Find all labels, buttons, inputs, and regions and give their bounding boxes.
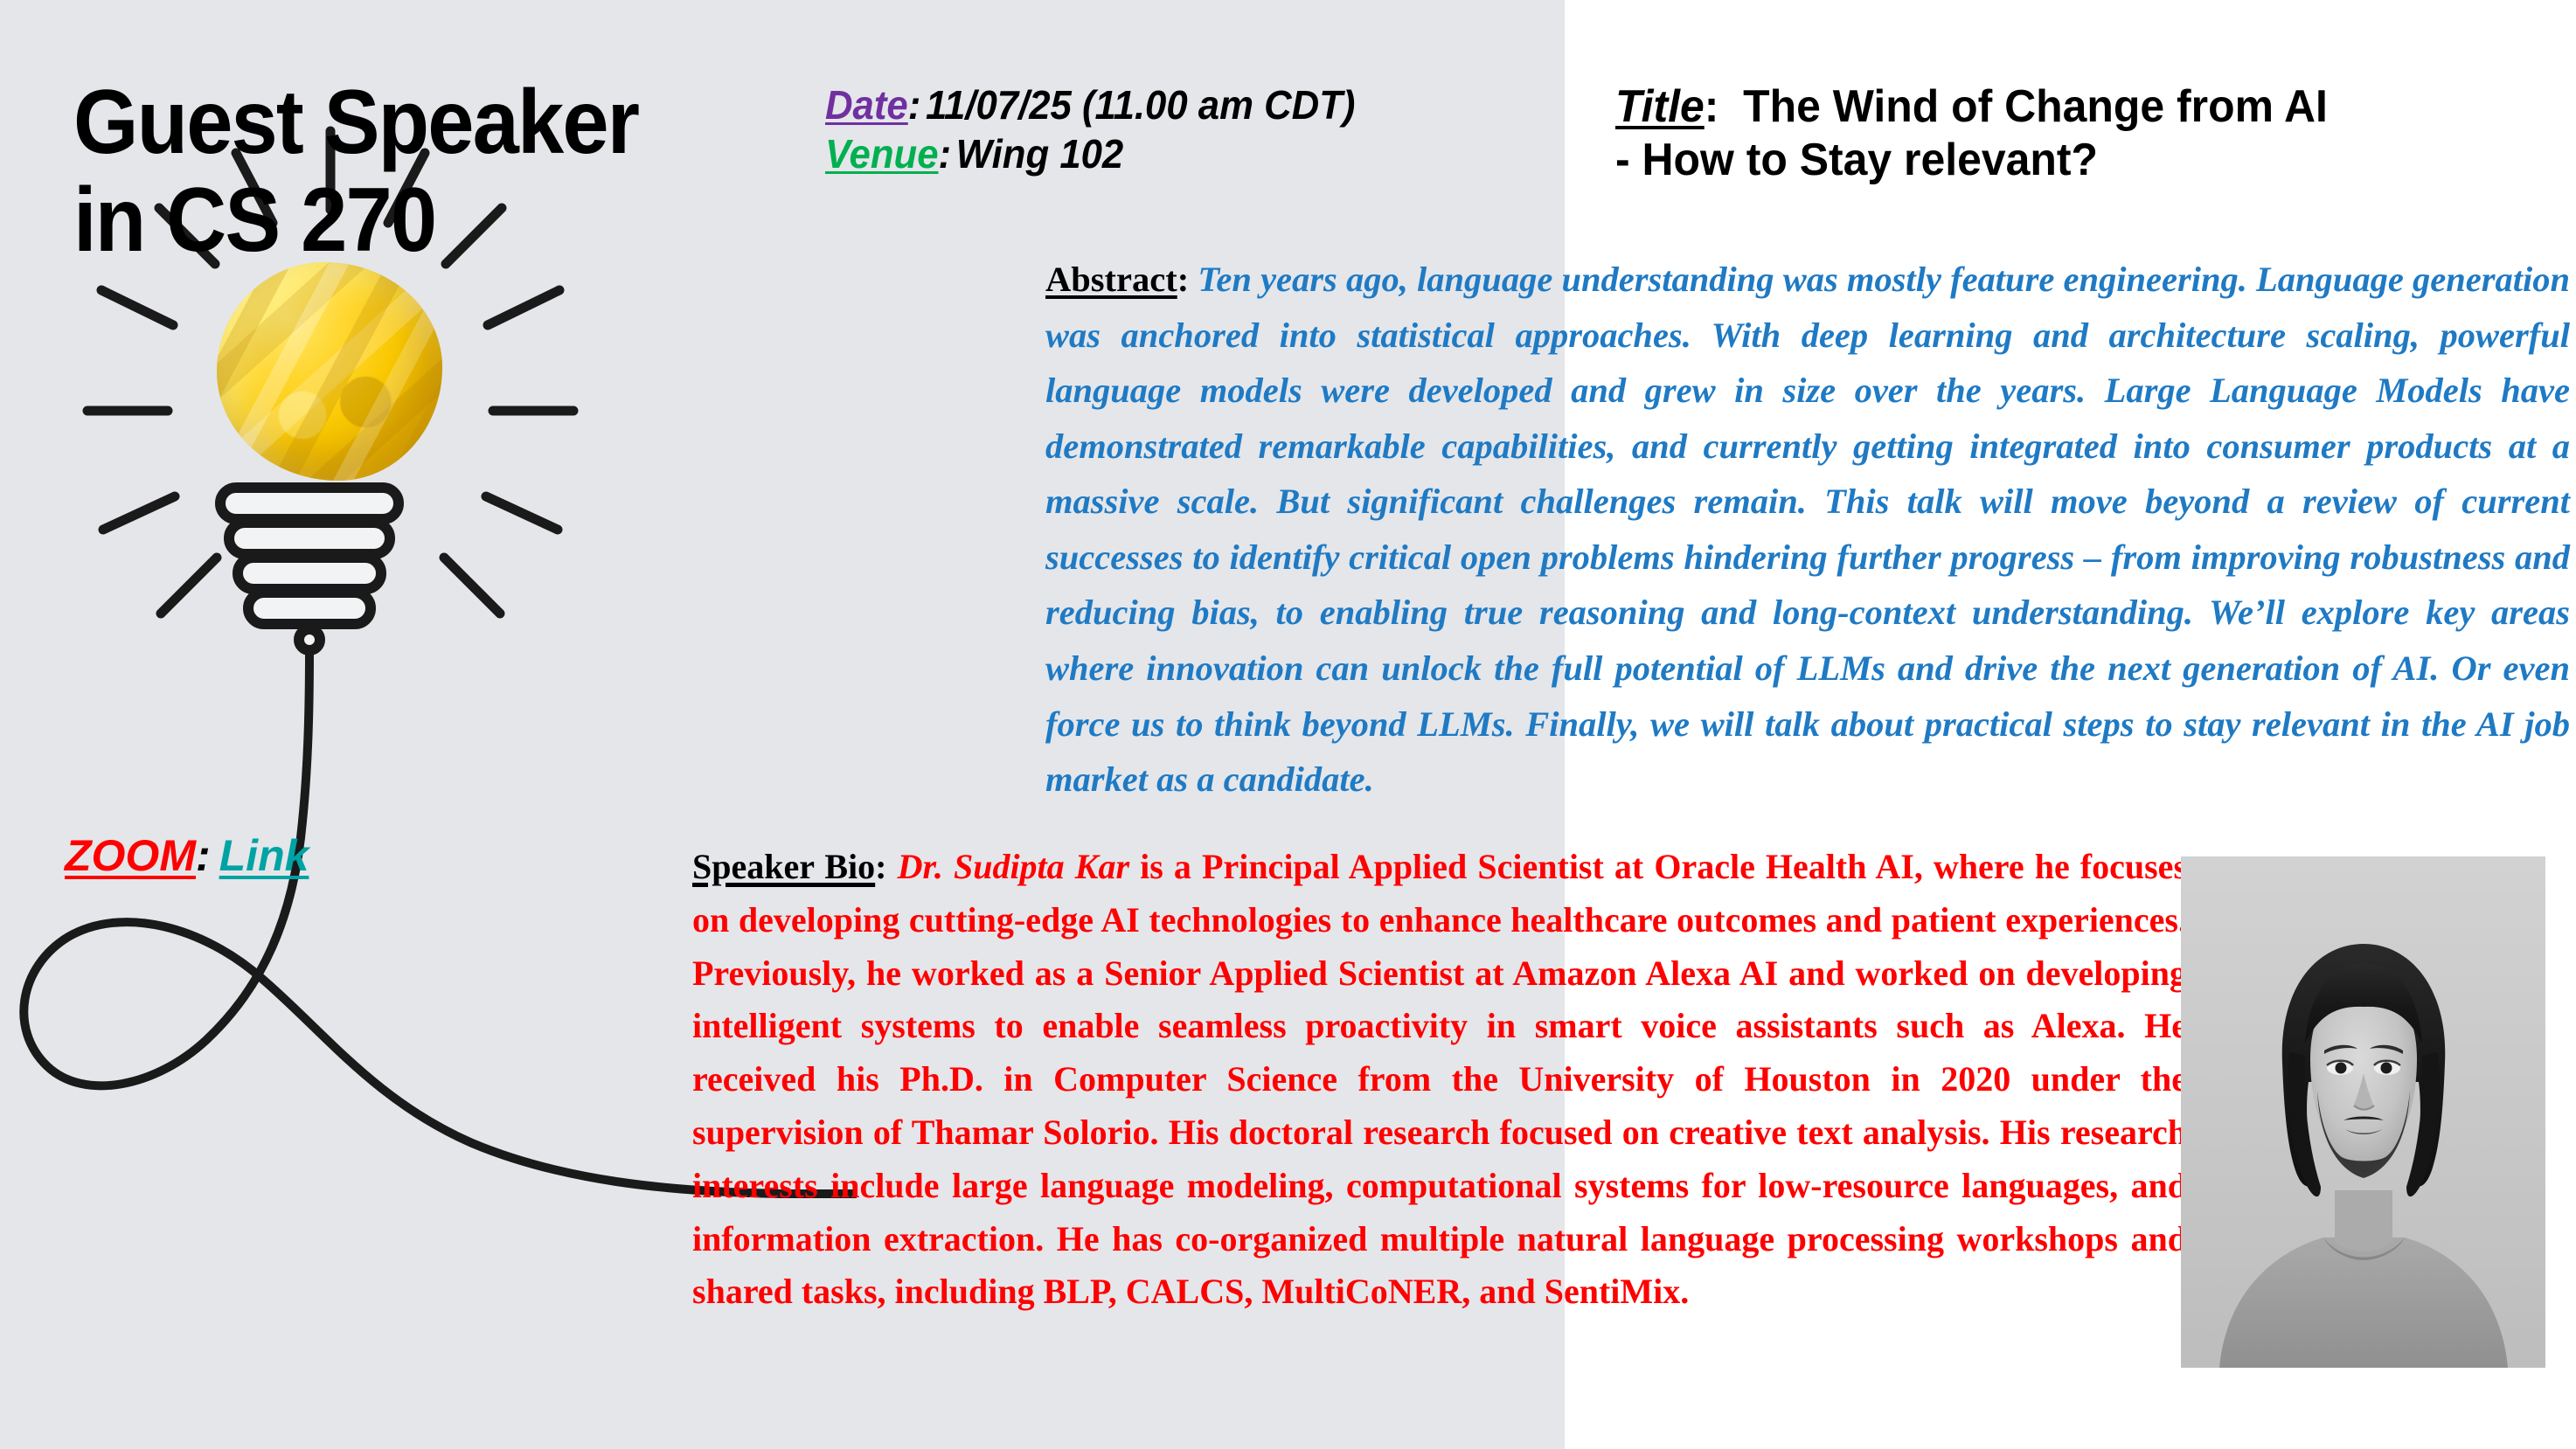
title-colon: : xyxy=(1705,81,1719,132)
speaker-name: Dr. Sudipta Kar xyxy=(898,847,1129,886)
speaker-bio-body: is a Principal Applied Scientist at Orac… xyxy=(692,847,2187,1311)
abstract-label: Abstract xyxy=(1045,260,1177,299)
speaker-bio-block: Speaker Bio: Dr. Sudipta Kar is a Princi… xyxy=(692,841,2187,1319)
speaker-photo-svg xyxy=(2181,856,2545,1368)
venue-value: Wing 102 xyxy=(956,131,1123,177)
zoom-link-row[interactable]: ZOOM:Link xyxy=(65,830,309,881)
zoom-colon: : xyxy=(196,831,211,880)
abstract-block: Abstract: Ten years ago, language unders… xyxy=(1045,252,2570,808)
zoom-link[interactable]: Link xyxy=(219,831,309,880)
event-details: Date:11/07/25 (11.00 am CDT) Venue:Wing … xyxy=(825,80,1355,178)
abstract-colon: : xyxy=(1177,260,1190,299)
venue-label: Venue xyxy=(825,131,939,177)
talk-title-line-2: - How to Stay relevant? xyxy=(1615,134,2530,187)
talk-title: Title: The Wind of Change from AI - How … xyxy=(1615,80,2530,188)
date-value: 11/07/25 (11.00 am CDT) xyxy=(926,82,1355,128)
date-colon: : xyxy=(908,82,921,128)
title-label: Title xyxy=(1615,81,1705,132)
headline-line-1: Guest Speaker xyxy=(73,72,638,173)
speaker-bio-colon: : xyxy=(875,847,886,886)
speaker-bio-label: Speaker Bio xyxy=(692,847,875,886)
poster-headline: Guest Speaker in CS 270 xyxy=(73,73,741,270)
abstract-body: Ten years ago, language understanding wa… xyxy=(1045,260,2570,799)
event-venue-row: Venue:Wing 102 xyxy=(825,129,1355,178)
speaker-photo xyxy=(2181,856,2545,1368)
guest-speaker-poster: Guest Speaker in CS 270 Date:11/07/25 (1… xyxy=(0,0,2576,1449)
date-label: Date xyxy=(825,82,908,128)
venue-colon: : xyxy=(939,131,952,177)
event-date-row: Date:11/07/25 (11.00 am CDT) xyxy=(825,80,1355,129)
zoom-label: ZOOM xyxy=(65,831,196,880)
talk-title-line-1: The Wind of Change from AI xyxy=(1743,81,2328,132)
headline-line-2: in CS 270 xyxy=(73,171,741,269)
